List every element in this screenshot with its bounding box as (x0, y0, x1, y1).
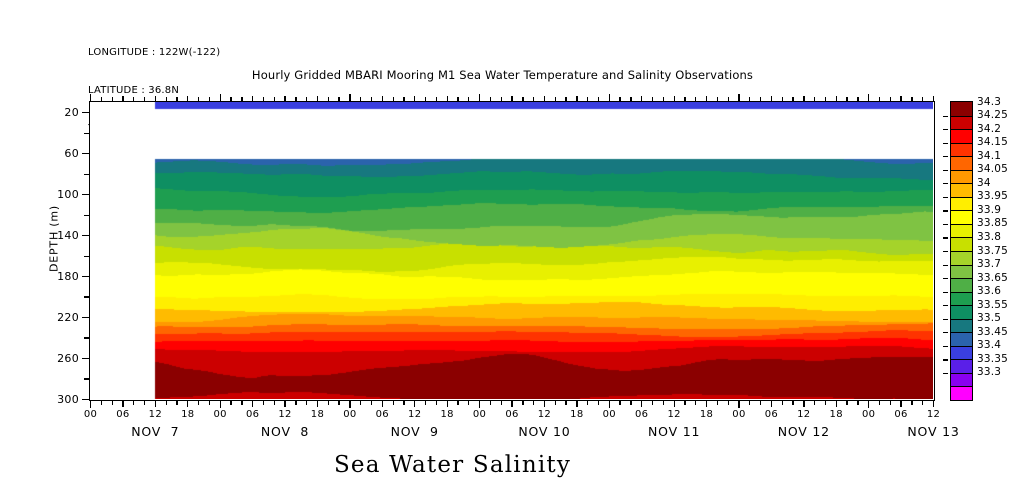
x-axis-minor-tick (490, 401, 491, 405)
colorbar-tick (943, 265, 948, 266)
x-axis-minor-tick (425, 401, 426, 405)
x-axis-major-tick (414, 401, 415, 407)
y-axis-tick-label: 300 (27, 393, 79, 406)
colorbar-band-divider (951, 224, 972, 225)
colorbar-band-divider (951, 170, 972, 171)
x-axis-minor-tick (619, 401, 620, 405)
colorbar-band-divider (951, 265, 972, 266)
x-axis-minor-tick (598, 401, 599, 405)
colorbar-tick (943, 332, 948, 333)
y-axis-major-tick (82, 399, 89, 400)
x-axis-hour-label: 06 (626, 409, 658, 420)
x-axis-major-tick (447, 401, 448, 407)
colorbar-band-divider (951, 197, 972, 198)
colorbar-band (951, 129, 972, 143)
x-axis-hour-label: 00 (464, 409, 496, 420)
x-axis-hour-label: 18 (431, 409, 463, 420)
x-axis-minor-tick (198, 401, 199, 405)
x-axis-minor-tick (112, 401, 113, 405)
x-axis-minor-tick (782, 401, 783, 405)
colorbar-tick-label: 33.8 (977, 231, 1001, 243)
x-axis-hour-label: 06 (107, 409, 139, 420)
colorbar-band-divider (951, 210, 972, 211)
x-axis-minor-tick (857, 401, 858, 405)
colorbar-tick (943, 116, 948, 117)
colorbar-band (951, 102, 972, 116)
x-axis-day-tick (868, 94, 869, 101)
colorbar-band (951, 359, 972, 373)
x-axis-major-tick (382, 401, 383, 407)
x-axis-major-tick (252, 401, 253, 407)
colorbar-tick (943, 143, 948, 144)
x-axis-minor-tick (749, 401, 750, 405)
x-axis-hour-label: 06 (885, 409, 917, 420)
latitude-label: LATITUDE : 36.8N (88, 85, 220, 98)
x-axis-hour-label: 12 (528, 409, 560, 420)
y-axis-major-tick (82, 358, 89, 359)
colorbar-band (951, 346, 972, 360)
x-axis-minor-tick (846, 401, 847, 405)
y-axis-title: DEPTH (m) (48, 179, 61, 299)
colorbar-tick-label: 34.05 (977, 163, 1008, 175)
y-axis-major-tick (82, 235, 89, 236)
x-axis-hour-label: 00 (723, 409, 755, 420)
x-axis-hour-label: 12 (918, 409, 950, 420)
x-axis-major-tick (674, 401, 675, 407)
x-axis-minor-tick (393, 401, 394, 405)
x-axis-minor-tick (922, 401, 923, 405)
longitude-label: LONGITUDE : 122W(-122) (88, 47, 220, 60)
colorbar-tick (943, 373, 948, 374)
x-axis-minor-tick (176, 401, 177, 405)
x-axis-minor-tick (555, 401, 556, 405)
colorbar-band-divider (951, 251, 972, 252)
colorbar-band-divider (951, 278, 972, 279)
x-axis-major-tick (641, 401, 642, 407)
x-axis-hour-label: 00 (75, 409, 107, 420)
colorbar-tick-label: 33.45 (977, 326, 1008, 338)
x-axis-hour-label: 18 (691, 409, 723, 420)
colorbar-band (951, 143, 972, 157)
colorbar-tick (943, 183, 948, 184)
x-axis-day-tick (479, 94, 480, 101)
colorbar-tick-label: 33.7 (977, 258, 1001, 270)
x-axis-hour-label: 06 (496, 409, 528, 420)
colorbar-band (951, 332, 972, 346)
x-axis-day-tick (738, 401, 739, 408)
x-axis-day-tick (609, 401, 610, 408)
x-axis-hour-label: 06 (755, 409, 787, 420)
colorbar-tick-label: 33.55 (977, 299, 1008, 311)
colorbar-band-divider (951, 237, 972, 238)
colorbar-tick-label: 34.3 (977, 96, 1001, 108)
y-axis-major-tick (82, 276, 89, 277)
x-axis-major-tick (317, 401, 318, 407)
colorbar-band (951, 251, 972, 265)
x-axis-day-label: NOV 8 (235, 424, 335, 439)
figure-caption: Sea Water Salinity (0, 452, 1009, 478)
x-axis-major-tick (771, 401, 772, 407)
colorbar-band-divider (951, 305, 972, 306)
x-axis-hour-label: 12 (658, 409, 690, 420)
x-axis-minor-tick (457, 401, 458, 405)
x-axis-major-tick (284, 401, 285, 407)
chart-title-text: Hourly Gridded MBARI Mooring M1 Sea Wate… (252, 68, 753, 82)
y-axis-tick-label: 20 (27, 106, 79, 119)
colorbar-band (951, 156, 972, 170)
colorbar-band-divider (951, 373, 972, 374)
x-axis-minor-tick (814, 401, 815, 405)
x-axis-major-tick (122, 401, 123, 407)
x-axis-minor-tick (533, 401, 534, 405)
x-axis-major-tick (155, 401, 156, 407)
x-axis-minor-tick (825, 401, 826, 405)
x-axis-minor-tick (911, 401, 912, 405)
colorbar-band (951, 319, 972, 333)
colorbar-band-divider (951, 319, 972, 320)
colorbar-band (951, 386, 972, 400)
x-axis-hour-label: 12 (788, 409, 820, 420)
y-axis-major-tick (82, 317, 89, 318)
x-axis-minor-tick (468, 401, 469, 405)
x-axis-minor-tick (792, 401, 793, 405)
colorbar-tick-label: 33.75 (977, 245, 1008, 257)
x-axis-day-label: NOV 10 (494, 424, 594, 439)
x-axis-day-tick (609, 94, 610, 101)
x-axis-minor-tick (295, 401, 296, 405)
plot-area (89, 101, 935, 401)
colorbar-tick-label: 34.15 (977, 136, 1008, 148)
x-axis-major-tick (511, 401, 512, 407)
colorbar-tick (943, 156, 948, 157)
x-axis-hour-label: 06 (366, 409, 398, 420)
x-axis-major-tick (544, 401, 545, 407)
x-axis-hour-label: 12 (139, 409, 171, 420)
figure-caption-text: Sea Water Salinity (334, 452, 571, 478)
x-axis-minor-tick (663, 401, 664, 405)
colorbar-band (951, 116, 972, 130)
x-axis-minor-tick (230, 401, 231, 405)
x-axis-hour-label: 00 (204, 409, 236, 420)
x-axis-minor-tick (760, 401, 761, 405)
colorbar-tick (943, 305, 948, 306)
x-axis-day-label: NOV 9 (365, 424, 465, 439)
x-axis-minor-tick (501, 401, 502, 405)
x-axis-major-tick (803, 401, 804, 407)
x-axis-minor-tick (652, 401, 653, 405)
x-axis-day-tick (220, 401, 221, 408)
x-axis-major-tick (187, 401, 188, 407)
x-axis-hour-label: 18 (172, 409, 204, 420)
x-axis-minor-tick (274, 401, 275, 405)
x-axis-minor-tick (403, 401, 404, 405)
colorbar-band (951, 224, 972, 238)
colorbar-tick (943, 224, 948, 225)
x-axis-hour-label: 18 (820, 409, 852, 420)
x-axis-hour-label: 00 (334, 409, 366, 420)
x-axis-hour-label: 18 (301, 409, 333, 420)
x-axis-day-tick (479, 401, 480, 408)
x-axis-minor-tick (436, 401, 437, 405)
colorbar-tick-label: 33.95 (977, 190, 1008, 202)
x-axis-minor-tick (522, 401, 523, 405)
colorbar-tick-label: 33.65 (977, 272, 1008, 284)
x-axis-day-tick (349, 401, 350, 408)
x-axis-minor-tick (209, 401, 210, 405)
colorbar-band (951, 305, 972, 319)
colorbar-band-divider (951, 116, 972, 117)
x-axis-major-tick (576, 401, 577, 407)
colorbar-tick-label: 33.9 (977, 204, 1001, 216)
x-axis-minor-tick (630, 401, 631, 405)
colorbar-tick-label: 33.5 (977, 312, 1001, 324)
x-axis-minor-tick (133, 401, 134, 405)
x-axis-minor-tick (565, 401, 566, 405)
colorbar-tick-label: 34 (977, 177, 991, 189)
salinity-section-figure: LONGITUDE : 122W(-122) LATITUDE : 36.8N … (0, 0, 1009, 504)
x-axis-minor-tick (241, 401, 242, 405)
x-axis-minor-tick (684, 401, 685, 405)
colorbar-band (951, 183, 972, 197)
colorbar-tick-label: 34.1 (977, 150, 1001, 162)
colorbar-tick-label: 33.35 (977, 353, 1008, 365)
colorbar-band-divider (951, 292, 972, 293)
x-axis-hour-label: 12 (399, 409, 431, 420)
y-axis-tick-label: 60 (27, 147, 79, 160)
colorbar-band (951, 278, 972, 292)
chart-title: Hourly Gridded MBARI Mooring M1 Sea Wate… (0, 68, 1009, 82)
x-axis-hour-label: 00 (853, 409, 885, 420)
colorbar-tick (943, 278, 948, 279)
colorbar-band (951, 237, 972, 251)
colorbar-band-divider (951, 332, 972, 333)
x-axis-day-label: NOV 11 (624, 424, 724, 439)
colorbar-tick-label: 33.3 (977, 366, 1001, 378)
colorbar-tick (943, 170, 948, 171)
colorbar-tick-label: 33.85 (977, 217, 1008, 229)
x-axis-day-tick (738, 94, 739, 101)
x-axis-major-tick (933, 401, 934, 407)
colorbar-tick-label: 34.2 (977, 123, 1001, 135)
colorbar-tick (943, 129, 948, 130)
colorbar-tick (943, 197, 948, 198)
x-axis-minor-tick (166, 401, 167, 405)
colorbar (950, 101, 973, 401)
x-axis-minor-tick (101, 401, 102, 405)
x-axis-day-label: NOV 12 (754, 424, 854, 439)
colorbar-band (951, 197, 972, 211)
x-axis-minor-tick (890, 401, 891, 405)
colorbar-tick-label: 33.4 (977, 339, 1001, 351)
x-axis-minor-tick (338, 401, 339, 405)
colorbar-band (951, 210, 972, 224)
x-axis-major-tick (836, 401, 837, 407)
x-axis-major-tick (900, 401, 901, 407)
colorbar-tick (943, 346, 948, 347)
colorbar-tick-label: 33.6 (977, 285, 1001, 297)
colorbar-tick (943, 319, 948, 320)
x-axis-major-tick (706, 401, 707, 407)
colorbar-band-divider (951, 359, 972, 360)
colorbar-band-divider (951, 129, 972, 130)
y-axis-major-tick (82, 194, 89, 195)
y-axis-tick-label: 260 (27, 352, 79, 365)
x-axis-minor-tick (360, 401, 361, 405)
x-axis-hour-label: 06 (237, 409, 269, 420)
colorbar-tick (943, 251, 948, 252)
x-axis-day-tick (868, 401, 869, 408)
colorbar-band-divider (951, 346, 972, 347)
x-axis-minor-tick (144, 401, 145, 405)
colorbar-tick (943, 292, 948, 293)
x-axis-minor-tick (695, 401, 696, 405)
colorbar-band (951, 265, 972, 279)
x-axis-hour-label: 12 (269, 409, 301, 420)
y-axis-tick-label: 220 (27, 311, 79, 324)
colorbar-band (951, 292, 972, 306)
x-axis-minor-tick (728, 401, 729, 405)
colorbar-tick (943, 210, 948, 211)
x-axis-minor-tick (371, 401, 372, 405)
x-axis-minor-tick (306, 401, 307, 405)
x-axis-hour-label: 18 (561, 409, 593, 420)
colorbar-band-divider (951, 386, 972, 387)
x-axis-day-tick (349, 94, 350, 101)
x-axis-day-label: NOV 13 (884, 424, 984, 439)
x-axis-minor-tick (263, 401, 264, 405)
colorbar-band-divider (951, 143, 972, 144)
colorbar-band (951, 373, 972, 387)
colorbar-band-divider (951, 156, 972, 157)
colorbar-tick-label: 34.25 (977, 109, 1008, 121)
colorbar-tick (943, 359, 948, 360)
x-axis-minor-tick (879, 401, 880, 405)
x-axis-minor-tick (717, 401, 718, 405)
colorbar-band-divider (951, 183, 972, 184)
x-axis-day-tick (90, 401, 91, 408)
colorbar-band (951, 170, 972, 184)
x-axis-hour-label: 00 (593, 409, 625, 420)
x-axis-minor-tick (328, 401, 329, 405)
x-axis-day-label: NOV 7 (105, 424, 205, 439)
salinity-contour-canvas (90, 102, 933, 399)
x-axis-minor-tick (587, 401, 588, 405)
colorbar-tick (943, 237, 948, 238)
